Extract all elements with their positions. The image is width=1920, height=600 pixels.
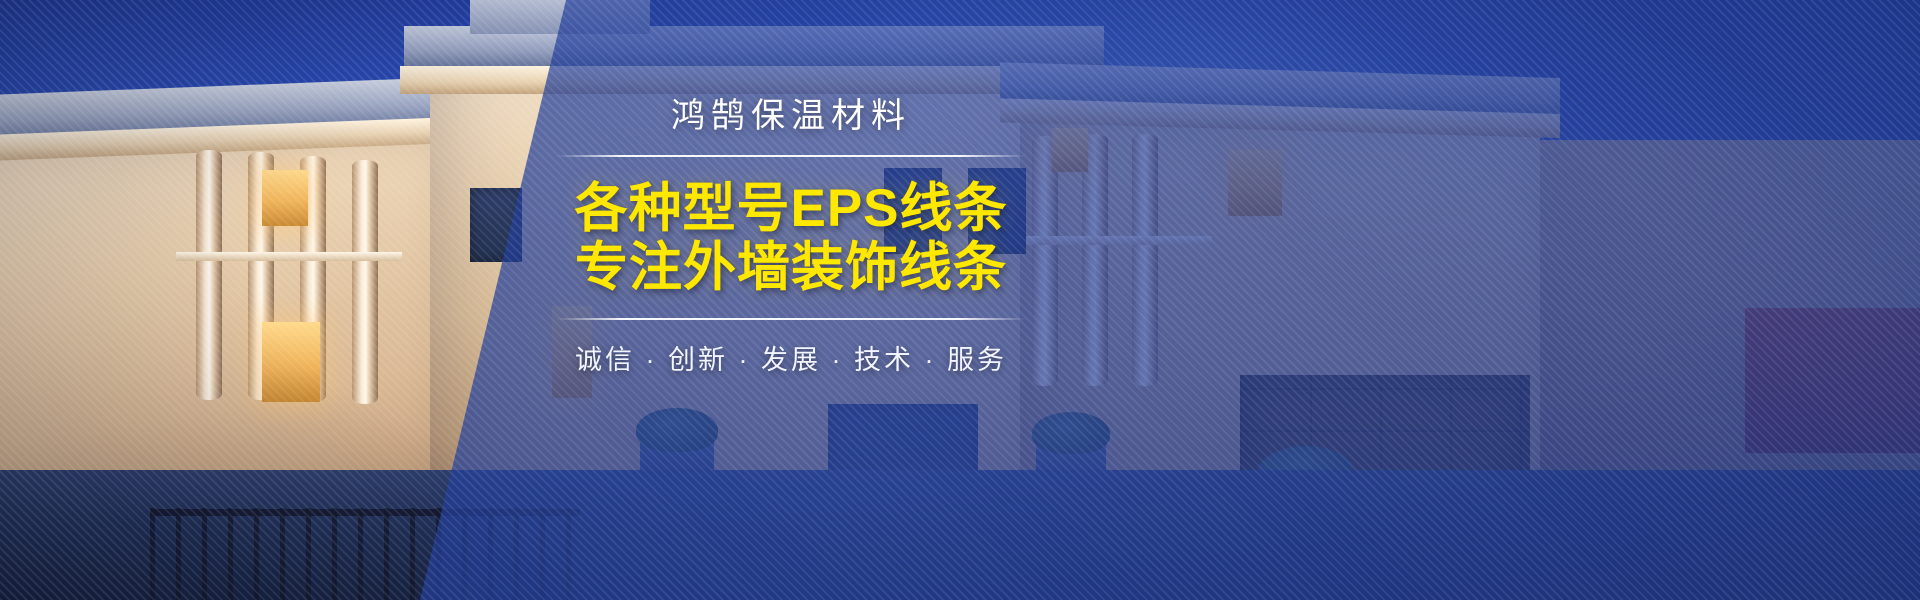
- iron-railing: [150, 508, 580, 600]
- tagline: 诚信 · 创新 · 发展 · 技术 · 服务: [556, 338, 1026, 377]
- column: [196, 150, 222, 400]
- shrub: [1032, 412, 1110, 454]
- center-cornice: [400, 66, 1100, 94]
- headline-block: 各种型号EPS线条 专注外墙装饰线条: [556, 179, 1026, 298]
- divider-rule-bottom: [556, 318, 1026, 320]
- column: [1132, 134, 1158, 386]
- balustrade: [1016, 236, 1212, 245]
- red-accent-block: [1745, 308, 1920, 453]
- divider-rule-top: [556, 155, 1026, 157]
- banner-copy-block: 鸿鹄保温材料 各种型号EPS线条 专注外墙装饰线条 诚信 · 创新 · 发展 ·…: [556, 96, 1026, 377]
- column: [352, 160, 378, 404]
- brand-name: 鸿鹄保温材料: [556, 96, 1026, 137]
- headline-line-1: 各种型号EPS线条: [556, 179, 1026, 238]
- headline-line-2: 专注外墙装饰线条: [556, 238, 1026, 297]
- window-lit: [262, 322, 320, 402]
- balustrade: [176, 252, 402, 261]
- window-dark: [470, 188, 522, 262]
- hero-banner: 鸿鹄保温材料 各种型号EPS线条 专注外墙装饰线条 诚信 · 创新 · 发展 ·…: [0, 0, 1920, 600]
- window-lit: [1052, 128, 1088, 172]
- window-lit: [1228, 150, 1282, 216]
- column: [1032, 136, 1058, 386]
- window-lit: [262, 170, 308, 226]
- center-roof-cap: [470, 0, 650, 34]
- shrub: [636, 408, 718, 452]
